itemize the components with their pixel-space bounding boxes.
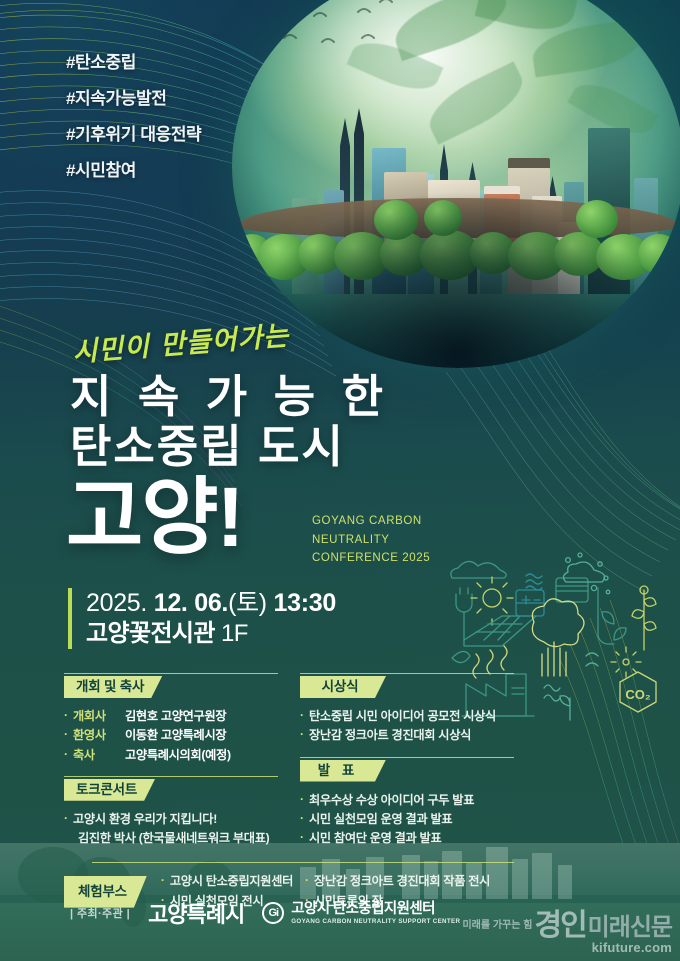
squiggle-icon — [544, 653, 598, 701]
tree-icon — [532, 599, 584, 676]
english-title-line: GOYANG CARBON — [312, 512, 430, 531]
hashtag-item: #기후위기 대응전략 — [66, 126, 201, 143]
svg-text:CO₂: CO₂ — [625, 687, 651, 702]
schedule-section-talk-concert: 토크콘서트 고양시 환경 우리가 지킵니다! 김진한 박사 (한국물새네트워크 … — [64, 779, 278, 849]
hashtag-item: #시민참여 — [66, 162, 201, 179]
seedling-icon — [560, 696, 570, 720]
support-center-name-kr: 고양시 탄소중립지원센터 — [291, 901, 460, 918]
schedule-item: 개회사김현호 고양연구원장 — [64, 707, 278, 726]
hashtag-item: #탄소중립 — [66, 54, 201, 71]
schedule-item: 환영사이동환 고양특례시장 — [64, 726, 278, 745]
water-wave-icon — [526, 574, 542, 590]
section-chip: 시상식 — [300, 676, 386, 698]
english-title: GOYANG CARBON NEUTRALITY CONFERENCE 2025 — [312, 512, 430, 568]
schedule-item: 시민 참여단 운영 결과 발표 — [300, 829, 514, 848]
watermark-name-a: 경인 — [534, 900, 585, 944]
hashtag-list: #탄소중립 #지속가능발전 #기후위기 대응전략 #시민참여 — [66, 54, 201, 198]
schedule-item-role: 환영사 — [73, 726, 115, 745]
event-dayofweek: (토) — [228, 589, 273, 617]
english-title-line: NEUTRALITY — [312, 531, 430, 550]
city-skyline — [232, 84, 680, 294]
schedule-item: 시민 실천모임 운영 결과 발표 — [300, 810, 514, 829]
venue-name: 고양꽃전시관 — [86, 620, 215, 647]
event-venue: 고양꽃전시관 1F — [86, 619, 336, 649]
watermark: 미래를 가꾸는 힘 경인 미래신문 kifuture.com — [534, 900, 672, 955]
section-chip: 발 표 — [300, 760, 386, 782]
english-title-line: CONFERENCE 2025 — [312, 549, 430, 568]
event-datetime-block: 2025. 12. 06.(토) 13:30 고양꽃전시관 1F — [68, 588, 336, 649]
plant-icon — [632, 586, 656, 650]
event-month-day: 12. 06. — [154, 589, 228, 617]
leaf-icon — [452, 651, 470, 662]
schedule-section-presentation: 발 표 최우수상 수상 아이디어 구두 발표 시민 실천모임 운영 결과 발표 … — [300, 760, 514, 849]
venue-floor: 1F — [221, 620, 248, 647]
schedule-column-right: 시상식 탄소중립 시민 아이디어 공모전 시상식 장난감 정크아트 경진대회 시… — [300, 676, 514, 862]
gi-mark-icon: Gi — [262, 902, 284, 924]
schedule-section-award: 시상식 탄소중립 시민 아이디어 공모전 시상식 장난감 정크아트 경진대회 시… — [300, 676, 514, 746]
tree-canopy — [232, 196, 680, 280]
watermark-name-b: 미래신문 — [588, 907, 672, 942]
sun-icon — [471, 577, 513, 625]
organizer-name: 고양특례시 — [148, 897, 244, 929]
battery-icon — [516, 590, 544, 616]
event-year: 2025. — [86, 589, 154, 617]
cloud-icon — [451, 561, 506, 578]
plug-icon — [456, 588, 472, 640]
birds-icon — [262, 0, 412, 82]
footer-organizers: | 주최·주관 | 고양특례시 Gi 고양시 탄소중립지원센터 GOYANG C… — [70, 897, 460, 929]
schedule-item: 축사고양특례시의회(예정) — [64, 746, 278, 765]
schedule-item: 장난감 정크아트 경진대회 시상식 — [300, 726, 514, 745]
schedule-item: 탄소중립 시민 아이디어 공모전 시상식 — [300, 707, 514, 726]
schedule-item-person: 고양특례시의회(예정) — [125, 746, 231, 765]
bubbles-icon — [563, 553, 609, 594]
title-line-1: 지 속 가 능 한 — [70, 374, 390, 419]
schedule-item-person: 김현호 고양연구원장 — [125, 707, 226, 726]
hashtag-item: #지속가능발전 — [66, 90, 201, 107]
support-center-logo: Gi 고양시 탄소중립지원센터 GOYANG CARBON NEUTRALITY… — [262, 901, 460, 925]
schedule-item: 고양시 환경 우리가 지킵니다! — [64, 810, 278, 829]
organizer-label: | 주최·주관 | — [70, 905, 130, 921]
label-bar-left: | — [70, 908, 73, 920]
program-schedule: 개회 및 축사 개회사김현호 고양연구원장 환영사이동환 고양특례시장 축사고양… — [64, 676, 514, 911]
schedule-subitem: 김진한 박사 (한국물새네트워크 부대표) — [64, 829, 278, 848]
sprout-icon — [598, 588, 626, 644]
schedule-item-role: 축사 — [73, 746, 115, 765]
schedule-section-opening: 개회 및 축사 개회사김현호 고양연구원장 환영사이동환 고양특례시장 축사고양… — [64, 676, 278, 765]
schedule-item-person: 이동환 고양특례시장 — [125, 726, 226, 745]
support-center-name-en: GOYANG CARBON NEUTRALITY SUPPORT CENTER — [291, 918, 460, 925]
title-line-2: 탄소중립 도시 — [70, 424, 345, 469]
globe-city-illustration — [232, 0, 680, 368]
label-bar-right: | — [127, 908, 130, 920]
event-date-time: 2025. 12. 06.(토) 13:30 — [86, 588, 336, 619]
section-chip: 토크콘서트 — [64, 779, 155, 801]
label-text: 주최·주관 — [77, 908, 123, 920]
page-title: 고양! — [66, 475, 243, 559]
schedule-item: 장난감 정크아트 경진대회 작품 전시 — [305, 872, 490, 891]
solar-panel-icon — [464, 616, 536, 646]
section-chip: 개회 및 축사 — [64, 676, 162, 698]
schedule-column-left: 개회 및 축사 개회사김현호 고양연구원장 환영사이동환 고양특례시장 축사고양… — [64, 676, 278, 862]
schedule-item: 최우수상 수상 아이디어 구두 발표 — [300, 791, 514, 810]
schedule-item-role: 개회사 — [73, 707, 115, 726]
co2-badge-icon: CO₂ — [620, 672, 656, 712]
watermark-tagline: 미래를 가꾸는 힘 — [462, 916, 532, 931]
event-time: 13:30 — [273, 589, 335, 617]
schedule-item: 고양시 탄소중립지원센터 — [161, 872, 293, 891]
poster-root: #탄소중립 #지속가능발전 #기후위기 대응전략 #시민참여 시민이 만들어가는… — [0, 0, 680, 961]
